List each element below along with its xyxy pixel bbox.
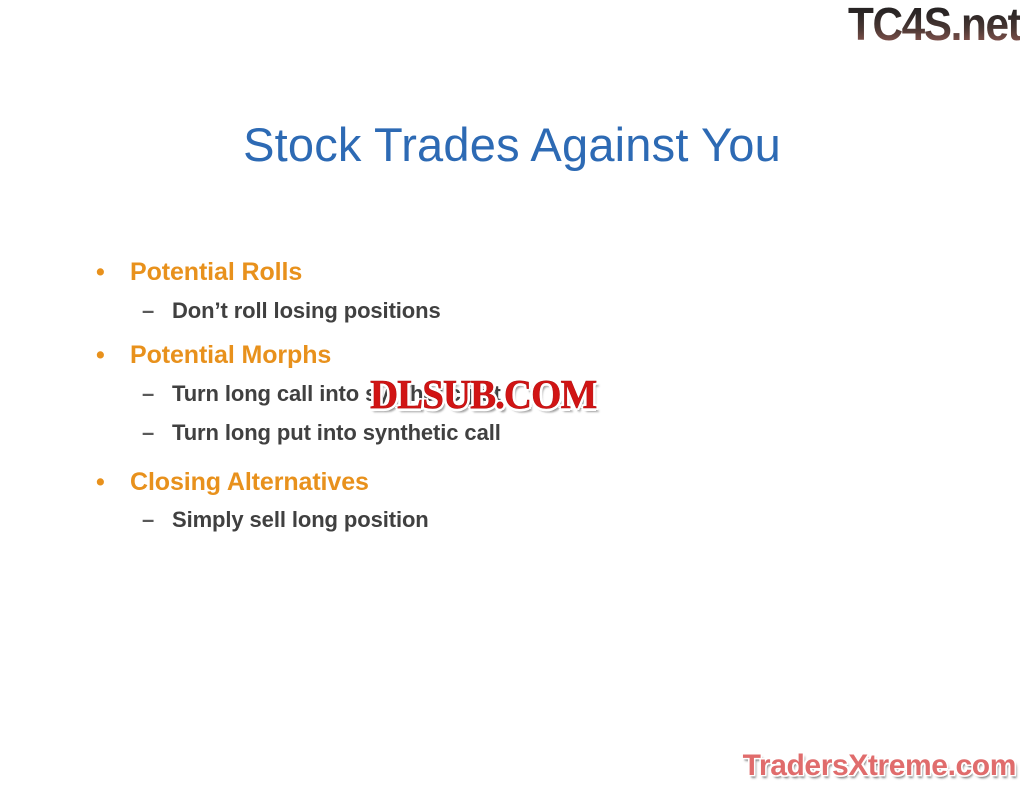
bullet-level1-label: Closing Alternatives (130, 468, 369, 496)
bullet-level1: • Potential Rolls (88, 256, 788, 290)
bullet-dash-icon: – (142, 296, 154, 326)
bullet-level1-label: Potential Rolls (130, 258, 302, 286)
bullet-dash-icon: – (142, 418, 154, 448)
bullet-level2: – Turn long put into synthetic call (88, 418, 788, 448)
bullet-level2: – Don’t roll losing positions (88, 296, 788, 326)
slide-canvas: TC4S.net Stock Trades Against You • Pote… (0, 0, 1024, 791)
bullet-level1-label: Potential Morphs (130, 341, 331, 369)
page-title: Stock Trades Against You (0, 120, 1024, 169)
bullet-level2: – Simply sell long position (88, 505, 788, 535)
bullet-level2-label: Simply sell long position (172, 507, 429, 532)
bullet-level1: • Closing Alternatives (88, 466, 788, 500)
tc4s-brand-logo: TC4S.net (848, 0, 1020, 51)
bullet-level2-label: Turn long put into synthetic call (172, 420, 501, 445)
bullet-level1: • Potential Morphs (88, 339, 788, 373)
dlsub-watermark: DLSUB.COM (370, 370, 596, 418)
bullet-dot-icon: • (96, 256, 105, 290)
tradersxtreme-watermark: TradersXtreme.com (743, 749, 1016, 783)
bullet-group: • Potential Rolls – Don’t roll losing po… (88, 256, 788, 325)
bullet-group: • Closing Alternatives – Simply sell lon… (88, 466, 788, 535)
bullet-dash-icon: – (142, 505, 154, 535)
bullet-level2-label: Don’t roll losing positions (172, 298, 441, 323)
bullet-dot-icon: • (96, 466, 105, 500)
bullet-dash-icon: – (142, 379, 154, 409)
bullet-dot-icon: • (96, 339, 105, 373)
